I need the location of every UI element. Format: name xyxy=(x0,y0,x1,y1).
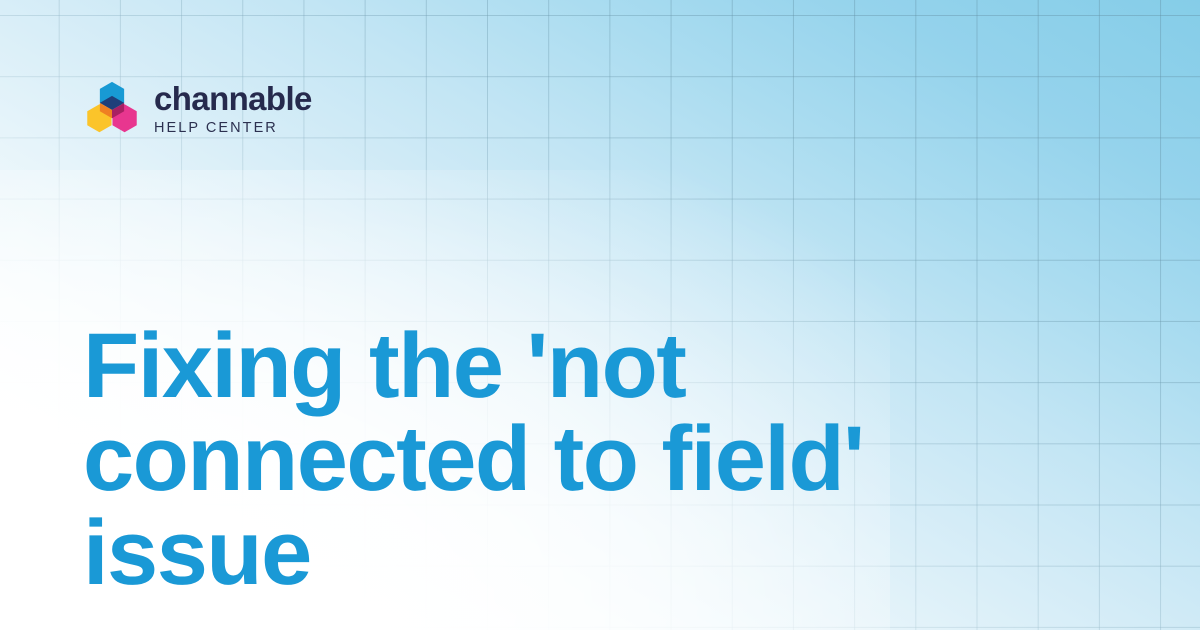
page-title: Fixing the 'not connected to field' issu… xyxy=(83,320,983,601)
channable-cube-logo-icon xyxy=(84,80,140,136)
og-card: channable HELP CENTER Fixing the 'not co… xyxy=(0,0,1200,630)
channable-help-center-logo[interactable]: channable HELP CENTER xyxy=(84,80,312,136)
logo-brand-text: channable xyxy=(154,82,312,115)
logo-subtitle-text: HELP CENTER xyxy=(154,121,312,136)
logo-wordmark: channable HELP CENTER xyxy=(154,82,312,136)
